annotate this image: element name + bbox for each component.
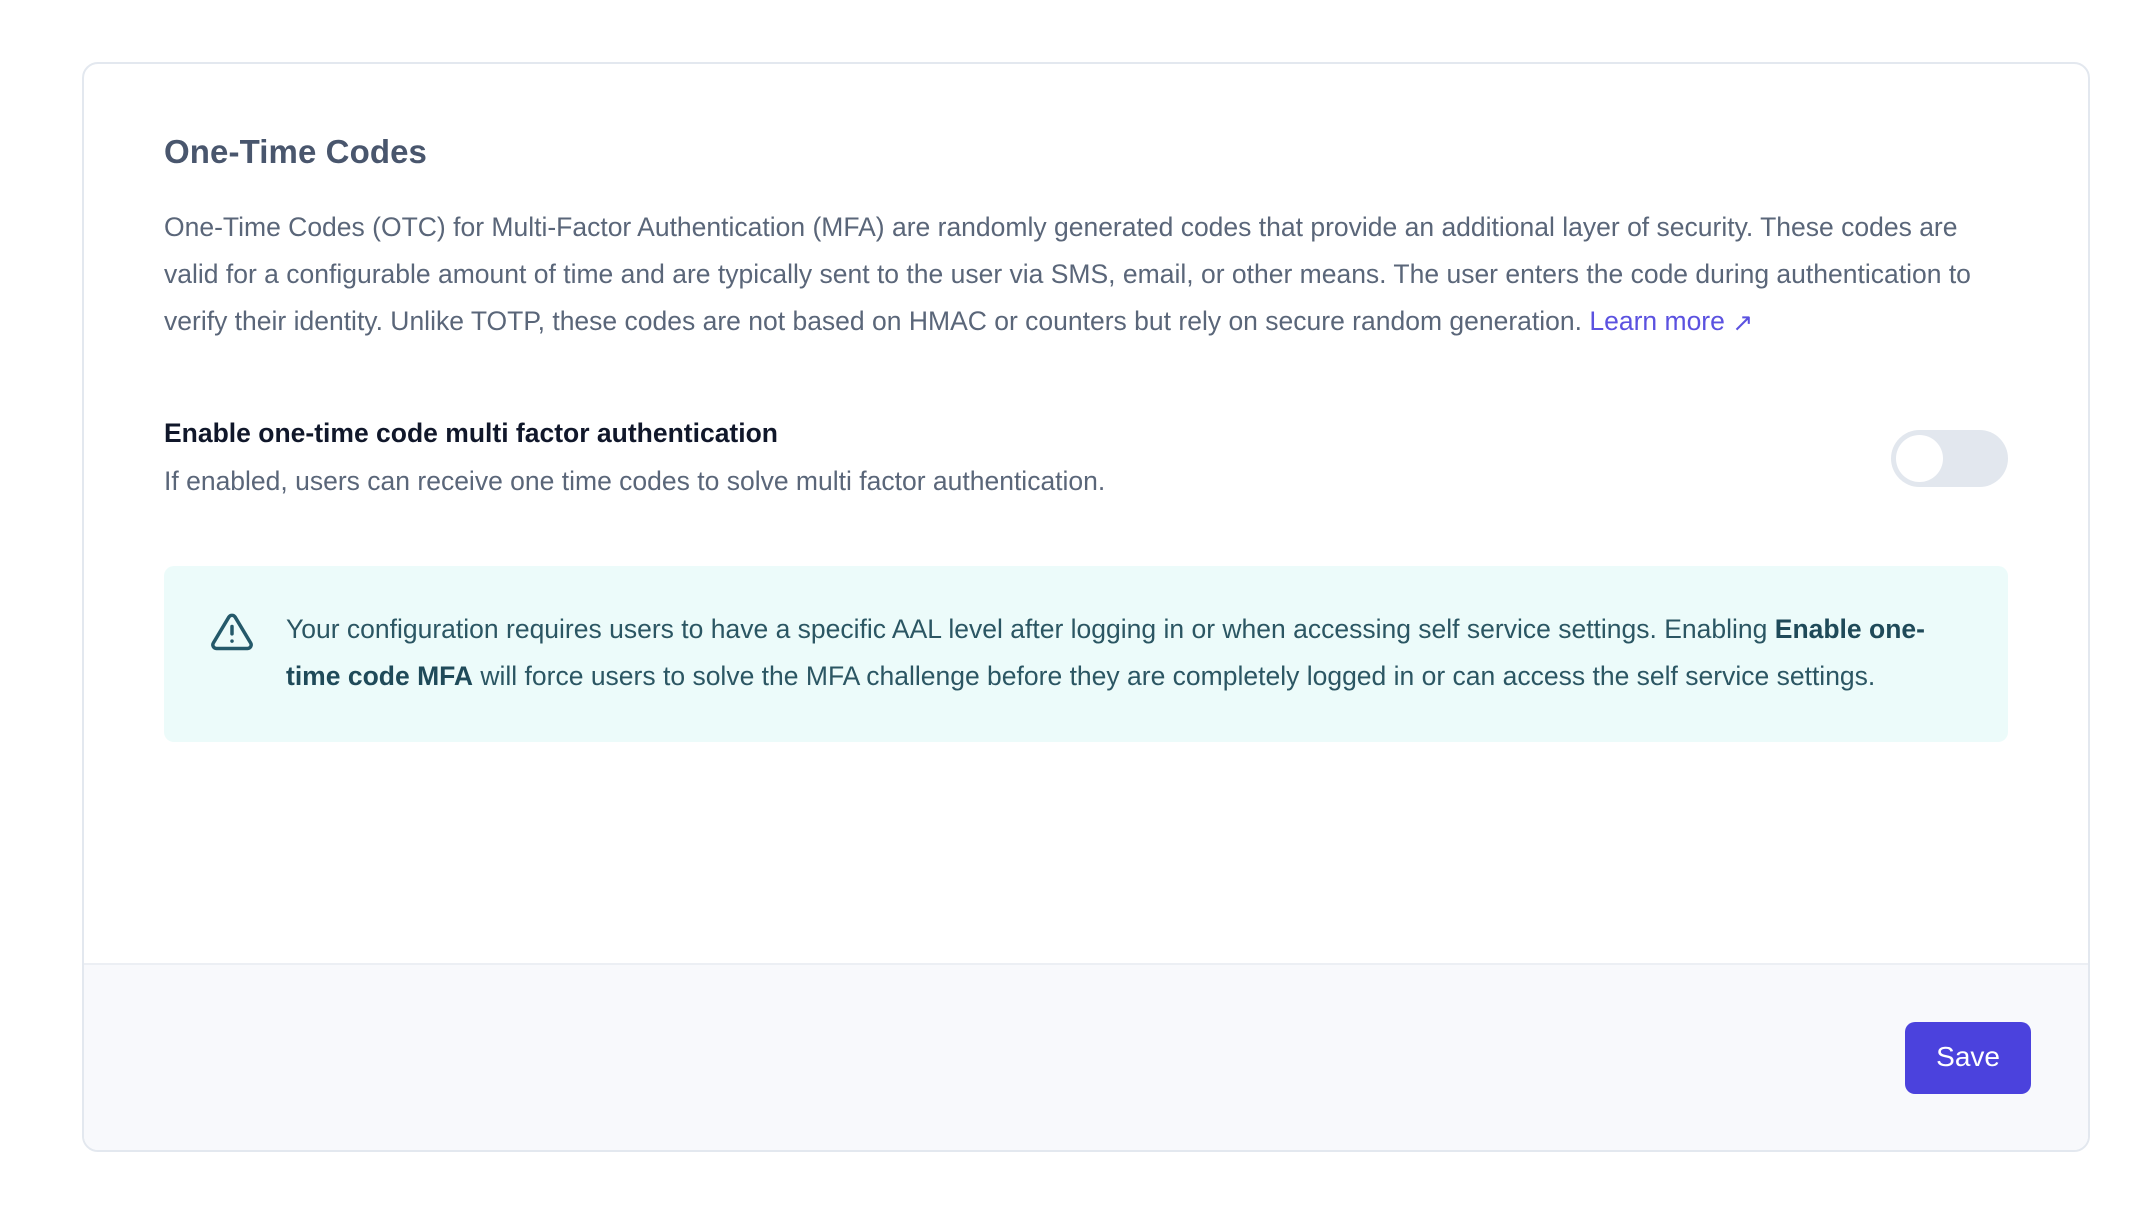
section-description: One-Time Codes (OTC) for Multi-Factor Au…: [164, 204, 2008, 345]
setting-row-one-time-code-mfa: Enable one-time code multi factor authen…: [164, 417, 2008, 499]
one-time-codes-settings-card: One-Time Codes One-Time Codes (OTC) for …: [82, 62, 2090, 1152]
enable-one-time-code-mfa-toggle[interactable]: [1891, 430, 2008, 487]
setting-label: Enable one-time code multi factor authen…: [164, 417, 1105, 450]
external-link-arrow-icon: ↗: [1732, 311, 1753, 336]
setting-help-text: If enabled, users can receive one time c…: [164, 464, 1105, 498]
setting-text-group: Enable one-time code multi factor authen…: [164, 417, 1105, 499]
alert-message: Your configuration requires users to hav…: [286, 606, 1962, 700]
page-root: One-Time Codes One-Time Codes (OTC) for …: [0, 0, 2146, 1218]
learn-more-link[interactable]: Learn more ↗: [1589, 306, 1753, 336]
alert-message-part-1: Your configuration requires users to hav…: [286, 614, 1775, 644]
save-button[interactable]: Save: [1905, 1022, 2031, 1094]
alert-message-part-2: will force users to solve the MFA challe…: [473, 661, 1875, 691]
warning-triangle-icon: [210, 610, 254, 654]
card-footer: Save: [84, 963, 2088, 1150]
card-body: One-Time Codes One-Time Codes (OTC) for …: [84, 64, 2088, 963]
page-title: One-Time Codes: [164, 132, 2008, 172]
toggle-knob: [1896, 435, 1943, 482]
learn-more-label: Learn more: [1589, 306, 1725, 336]
aal-warning-alert: Your configuration requires users to hav…: [164, 566, 2008, 742]
